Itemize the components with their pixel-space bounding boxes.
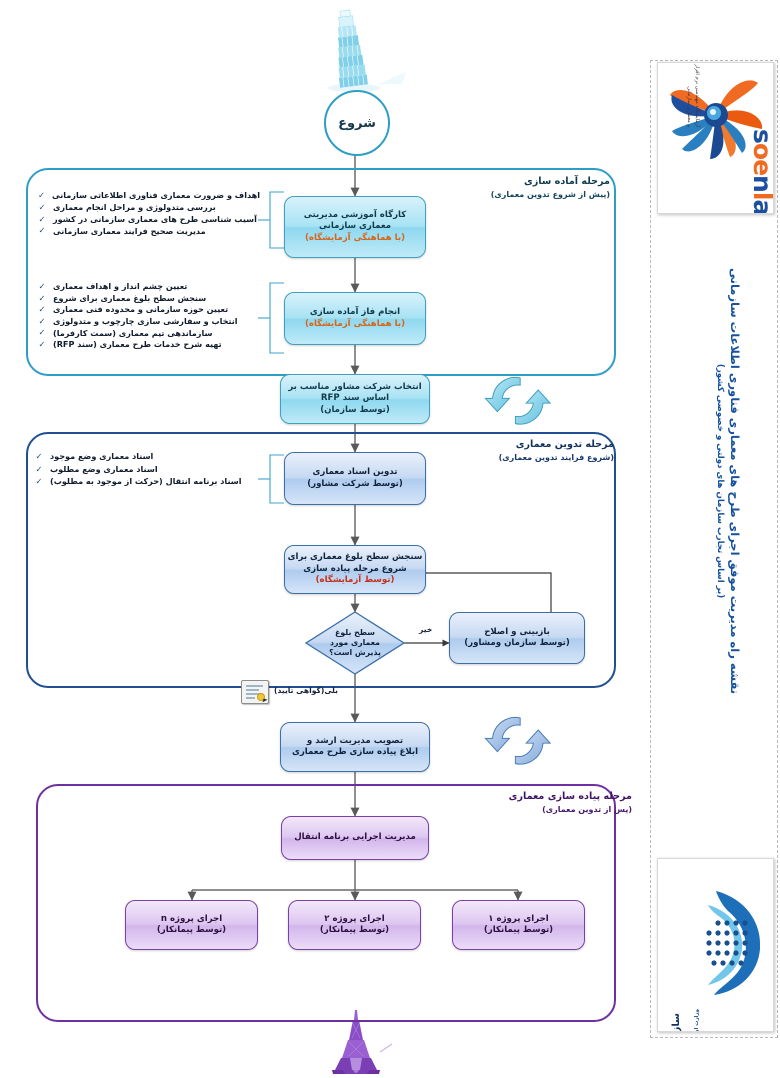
node-workshop[interactable]: کارگاه آموزشی مدیریتی معماری سازمانی (با…: [284, 196, 426, 258]
node-compile-docs[interactable]: تدوین اسناد معماری (توسط شرکت مشاور): [284, 452, 426, 505]
list-item: مدیریت صحیح فرایند معماری سازمانی ✓: [38, 226, 260, 234]
prep-phase-accent: (با هماهنگی آزمایشگاه): [305, 319, 405, 330]
project-2-line-1: اجرای پروژه ۲: [324, 914, 384, 925]
sidebar-subtitle-line: (بر اساس تجارب سازمان های دولتی و خصوصی …: [715, 268, 725, 694]
workshop-accent: (با هماهنگی آزمایشگاه): [305, 233, 405, 244]
node-project-n[interactable]: اجرای پروژه n (توسط پیمانکار): [125, 900, 258, 950]
phase-2-subtitle: (شروع فرایند تدوین معماری): [499, 452, 614, 464]
decision-line-2: معماری مورد: [330, 638, 380, 648]
select-consultant-line-3: (توسط سازمان): [320, 405, 390, 416]
node-select-consultant[interactable]: انتخاب شرکت مشاور مناسب بر اساس سند RFP …: [280, 374, 430, 424]
review-line-2: (توسط سازمان ومشاور): [464, 638, 570, 649]
list-item: آسیب شناسی طرح های معماری سازمانی در کشو…: [38, 215, 260, 223]
decision-line-3: پذیرش است؟: [329, 648, 381, 658]
soenlab-logo: soenlab آزمایشگاه مهندسی نرم افزار و معم…: [657, 62, 774, 214]
prep-phase-line-1: انجام فاز آماده سازی: [310, 307, 400, 318]
node-project-1[interactable]: اجرای پروژه ۱ (توسط پیمانکار): [452, 900, 585, 950]
check-icon: ✓: [38, 305, 46, 313]
check-icon: ✓: [38, 340, 46, 348]
node-prep-phase[interactable]: انجام فاز آماده سازی (با هماهنگی آزمایشگ…: [284, 292, 426, 345]
list-item: اهداف و ضرورت معماری فناوری اطلاعاتی ساز…: [38, 191, 260, 199]
check-icon: ✓: [38, 203, 46, 211]
decision-label: سطح بلوغ معماری مورد پذیرش است؟: [306, 612, 404, 674]
node-review-revise[interactable]: بازبینی و اصلاح (توسط سازمان ومشاور): [449, 612, 585, 664]
select-consultant-line-2: اساس سند RFP: [321, 393, 389, 404]
phase-title-implementation: مرحله پیاده سازی معماری (پس از تدوین معم…: [509, 790, 632, 816]
check-icon: ✓: [38, 226, 46, 234]
list-item: سازماندهی تیم معماری (سمت کارفرما) ✓: [38, 328, 260, 336]
workshop-line-1: کارگاه آموزشی مدیریتی: [304, 210, 407, 221]
maturity-line-2: شروع مرحله پیاده سازی: [303, 564, 407, 575]
svg-text:وزارت ارتباطات و فناوری اطلاعا: وزارت ارتباطات و فناوری اطلاعات: [694, 1009, 700, 1031]
phase-title-preparation: مرحله آماده سازی (پیش از شروع تدوین معما…: [491, 175, 610, 201]
list-item: سنجش سطح بلوغ معماری برای شروع ✓: [38, 294, 260, 302]
check-icon: ✓: [35, 477, 43, 485]
list-item: انتخاب و سفارشی سازی چارچوب و متدولوژی ✓: [38, 317, 260, 325]
phase-title-development: مرحله تدوین معماری (شروع فرایند تدوین مع…: [499, 438, 614, 464]
compile-docs-line-1: تدوین اسناد معماری: [313, 467, 398, 478]
phase-2-title: مرحله تدوین معماری: [499, 438, 614, 452]
approval-line-2: ابلاغ پیاده سازی طرح معماری: [292, 747, 418, 758]
maturity-accent: (توسط آزمایشگاه): [316, 575, 395, 586]
diagram-canvas: شروع مرحله آماده سازی (پیش از شروع تدوین…: [0, 0, 780, 1078]
check-icon: ✓: [38, 282, 46, 290]
svg-text:آزمایشگاه مهندسی نرم افزار: آزمایشگاه مهندسی نرم افزار: [694, 63, 701, 127]
list-item: تهیه شرح خدمات طرح معماری (سند RFP) ✓: [38, 340, 260, 348]
svg-text:سازمان فناوری اطلاعات ایران: سازمان فناوری اطلاعات ایران: [671, 1013, 682, 1031]
review-line-1: بازبینی و اصلاح: [484, 627, 550, 638]
list-item: بررسی متدولوژی و مراحل انجام معماری ✓: [38, 203, 260, 211]
phase-1-subtitle: (پیش از شروع تدوین معماری): [491, 189, 610, 201]
transition-line-1: مدیریت اجرایی برنامه انتقال: [294, 832, 416, 843]
pisa-tower-illustration: [328, 9, 406, 92]
check-icon: ✓: [38, 215, 46, 223]
check-icon: ✓: [35, 465, 43, 473]
node-project-2[interactable]: اجرای پروژه ۲ (توسط پیمانکار): [288, 900, 421, 950]
list-item: اسناد معماری وضع مطلوب ✓: [35, 465, 260, 473]
project-2-line-2: (توسط پیمانکار): [320, 925, 389, 936]
edge-label-yes: بلی(گواهی تایید): [274, 686, 338, 695]
select-consultant-line-1: انتخاب شرکت مشاور مناسب بر: [288, 382, 421, 393]
prep-phase-checklist: تعیین چشم انداز و اهداف معماری ✓ سنجش سط…: [38, 282, 260, 348]
edge-label-no: خیر: [419, 625, 432, 634]
project-1-line-1: اجرای پروژه ۱: [488, 914, 548, 925]
list-item: اسناد برنامه انتقال (حرکت از موجود به مط…: [35, 477, 260, 485]
node-maturity-assessment[interactable]: سنجش سطح بلوغ معماری برای شروع مرحله پیا…: [284, 545, 426, 594]
phase-3-title: مرحله پیاده سازی معماری: [509, 790, 632, 804]
list-item: تعیین حوزه سازمانی و محدوده فنی معماری ✓: [38, 305, 260, 313]
sidebar-title-line: نقشه راه مدیریت موفق اجرای طرح های معمار…: [728, 268, 742, 694]
decision-diamond[interactable]: سطح بلوغ معماری مورد پذیرش است؟: [306, 612, 404, 674]
list-item: تعیین چشم انداز و اهداف معماری ✓: [38, 282, 260, 290]
phase-1-title: مرحله آماده سازی: [491, 175, 610, 189]
compile-docs-line-2: (توسط شرکت مشاور): [307, 479, 403, 490]
list-item: اسناد معماری وضع موجود ✓: [35, 452, 260, 460]
phase-3-subtitle: (پس از تدوین معماری): [509, 804, 632, 816]
project-1-line-2: (توسط پیمانکار): [484, 925, 553, 936]
approval-line-1: تصویب مدیریت ارشد و: [307, 736, 403, 747]
project-n-line-2: (توسط پیمانکار): [157, 925, 226, 936]
sidebar-vertical-title: نقشه راه مدیریت موفق اجرای طرح های معمار…: [715, 268, 742, 694]
svg-text:soenlab: soenlab: [748, 129, 773, 213]
decision-line-1: سطح بلوغ: [335, 628, 375, 638]
certificate-icon: [241, 680, 269, 704]
start-node: شروع: [324, 90, 390, 156]
svg-text:و معماری سازمانی: و معماری سازمانی: [686, 86, 692, 127]
iran-ito-logo: سازمان فناوری اطلاعات ایران وزارت ارتباط…: [657, 858, 774, 1032]
workshop-line-2: معماری سازمانی: [319, 221, 391, 232]
check-icon: ✓: [38, 328, 46, 336]
node-approval[interactable]: تصویب مدیریت ارشد و ابلاغ پیاده سازی طرح…: [280, 722, 430, 772]
node-transition-management[interactable]: مدیریت اجرایی برنامه انتقال: [281, 816, 429, 860]
check-icon: ✓: [35, 452, 43, 460]
project-n-line-1: اجرای پروژه n: [161, 914, 222, 925]
check-icon: ✓: [38, 294, 46, 302]
workshop-checklist: اهداف و ضرورت معماری فناوری اطلاعاتی ساز…: [38, 191, 260, 235]
compile-docs-checklist: اسناد معماری وضع موجود ✓ اسناد معماری وض…: [35, 452, 260, 486]
check-icon: ✓: [38, 191, 45, 199]
maturity-line-1: سنجش سطح بلوغ معماری برای: [288, 552, 423, 563]
check-icon: ✓: [38, 317, 46, 325]
